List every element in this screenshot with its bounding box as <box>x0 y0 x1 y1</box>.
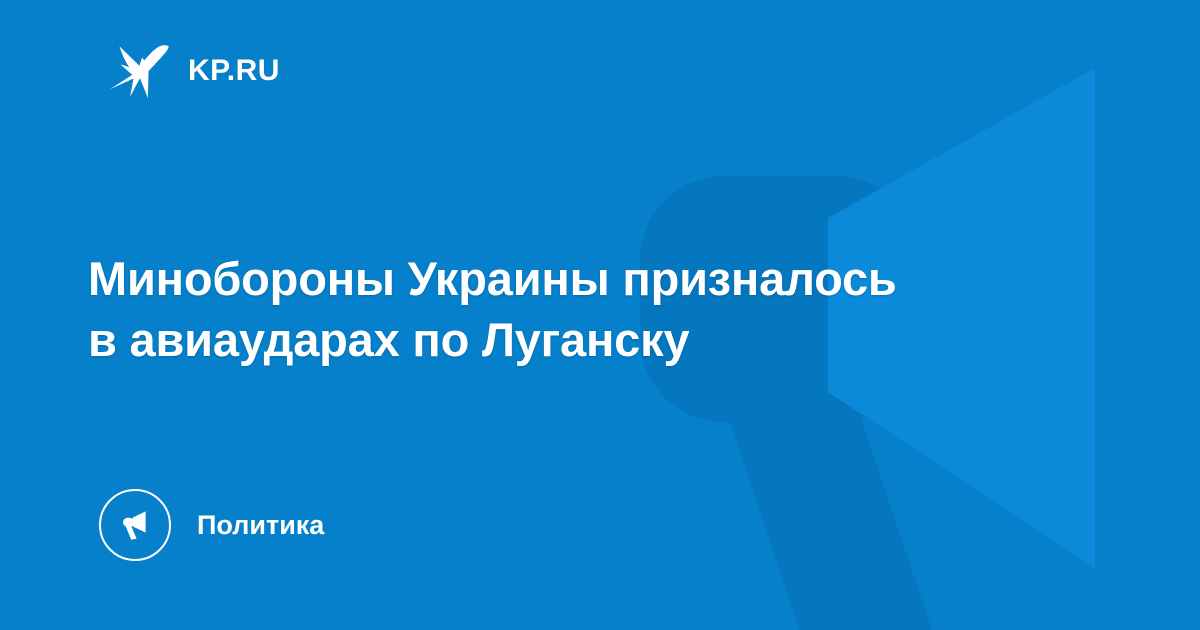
megaphone-watermark-handle <box>716 380 932 630</box>
brand-logo[interactable]: KP.RU <box>108 40 280 102</box>
category-icon-badge <box>99 489 171 561</box>
share-card: KP.RU Минобороны Украины призналось в ав… <box>0 0 1200 630</box>
category-tag[interactable]: Политика <box>99 489 324 561</box>
brand-name-label: KP.RU <box>188 56 280 86</box>
category-label: Политика <box>197 512 324 539</box>
swallow-bird-icon <box>108 40 170 102</box>
headline-line-2: в авиаударах по Луганску <box>88 310 1098 370</box>
headline-line-1: Минобороны Украины призналось <box>88 249 1098 309</box>
megaphone-icon <box>115 505 155 545</box>
headline: Минобороны Украины призналось в авиаудар… <box>88 249 1098 369</box>
